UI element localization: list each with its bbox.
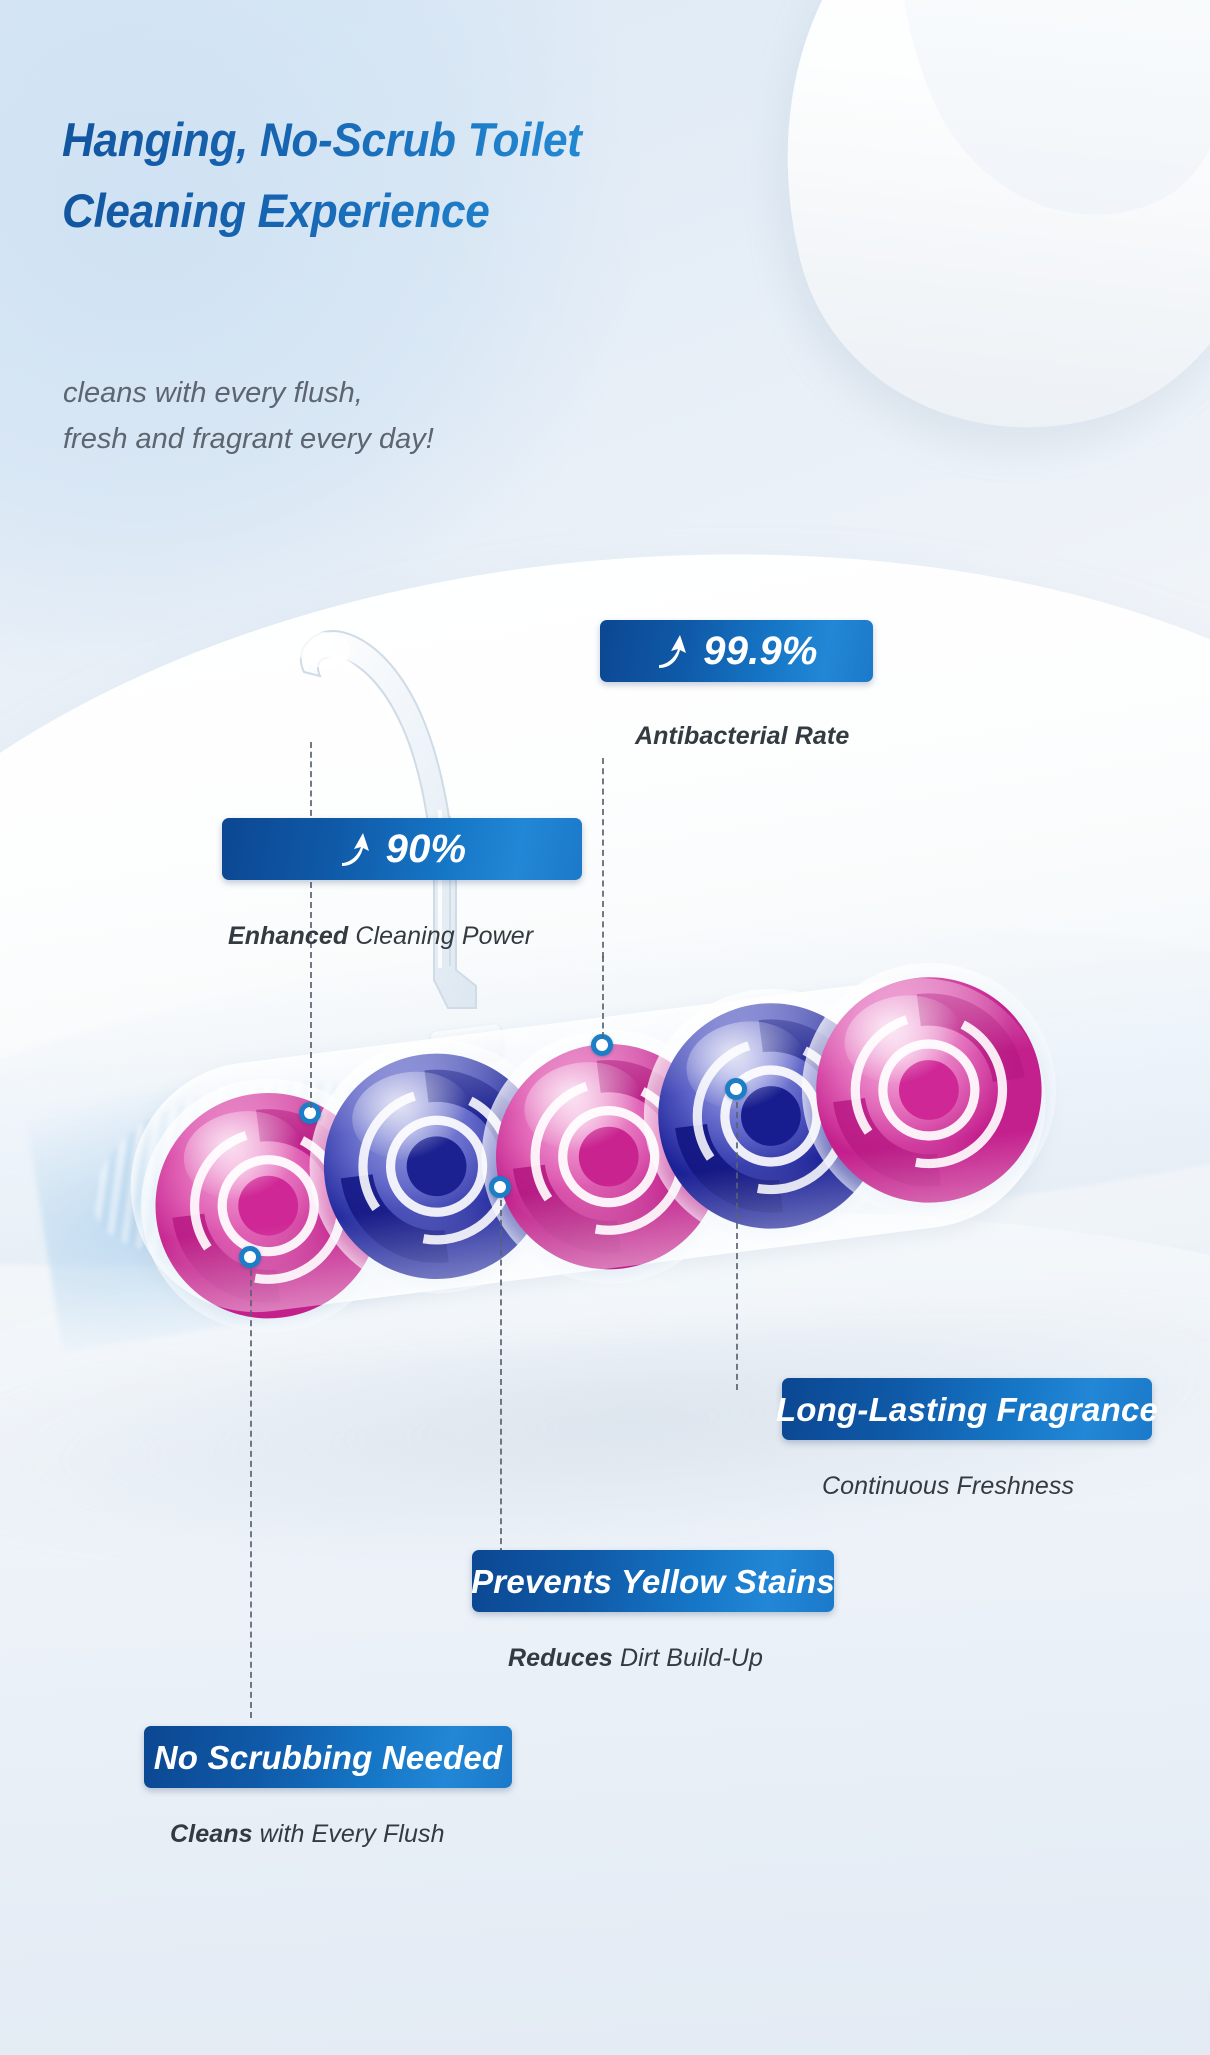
caption-fragrance-regular: Continuous Freshness: [822, 1472, 1074, 1500]
connector-line-fragrance: [736, 1092, 738, 1390]
page-title-line-2: Cleaning Experience: [62, 175, 720, 246]
caption-cleaning-power: Enhanced Cleaning Power: [228, 922, 533, 951]
connector-line-no-scrubbing: [250, 1260, 252, 1718]
caption-yellow-stains-regular: Dirt Build-Up: [620, 1644, 763, 1672]
infographic-canvas: Hanging, No-Scrub Toilet Cleaning Experi…: [0, 0, 1210, 2055]
caption-antibacterial: Antibacterial Rate: [635, 722, 849, 751]
badge-antibacterial-value: 99.9%: [703, 631, 817, 671]
caption-no-scrubbing-bold: Cleans: [170, 1820, 253, 1848]
badge-no-scrubbing[interactable]: No Scrubbing Needed: [144, 1726, 512, 1788]
caption-cleaning-power-bold: Enhanced: [228, 922, 348, 950]
toilet-lid-inner: [833, 0, 1210, 268]
connector-line-yellow-stains: [500, 1190, 502, 1564]
caption-antibacterial-bold: Antibacterial Rate: [635, 722, 849, 750]
badge-yellow-stains[interactable]: Prevents Yellow Stains: [472, 1550, 834, 1612]
connector-line-antibacterial: [602, 758, 604, 958]
badge-cleaning-power[interactable]: 90%: [222, 818, 582, 880]
badge-antibacterial[interactable]: 99.9%: [600, 620, 873, 682]
badge-fragrance[interactable]: Long-Lasting Fragrance: [782, 1378, 1152, 1440]
page-title-line-1: Hanging, No-Scrub Toilet: [62, 113, 581, 166]
up-arrow-icon: [338, 829, 372, 869]
page-title: Hanging, No-Scrub Toilet Cleaning Experi…: [62, 104, 720, 247]
caption-cleaning-power-regular: Cleaning Power: [355, 922, 533, 950]
connector-line-cleaning-power-lower: [310, 872, 312, 1108]
caption-yellow-stains-bold: Reduces: [508, 1644, 613, 1672]
badge-cleaning-power-value: 90%: [386, 829, 467, 869]
caption-fragrance: Continuous Freshness: [822, 1472, 1074, 1501]
badge-yellow-stains-value: Prevents Yellow Stains: [471, 1565, 835, 1598]
caption-no-scrubbing-regular: with Every Flush: [260, 1820, 445, 1848]
connector-dot-no-scrubbing: [239, 1246, 261, 1268]
page-subtitle: cleans with every flush, fresh and fragr…: [63, 370, 434, 463]
connector-dot-yellow-stains: [489, 1176, 511, 1198]
up-arrow-icon: [655, 631, 689, 671]
caption-yellow-stains: Reduces Dirt Build-Up: [508, 1644, 763, 1673]
connector-line-antibacterial-lower: [602, 956, 604, 1038]
page-subtitle-line-1: cleans with every flush,: [63, 370, 434, 416]
badge-no-scrubbing-value: No Scrubbing Needed: [154, 1741, 503, 1774]
page-subtitle-line-2: fresh and fragrant every day!: [63, 416, 434, 462]
caption-no-scrubbing: Cleans with Every Flush: [170, 1820, 445, 1849]
connector-dot-fragrance: [725, 1078, 747, 1100]
badge-fragrance-value: Long-Lasting Fragrance: [776, 1393, 1158, 1426]
